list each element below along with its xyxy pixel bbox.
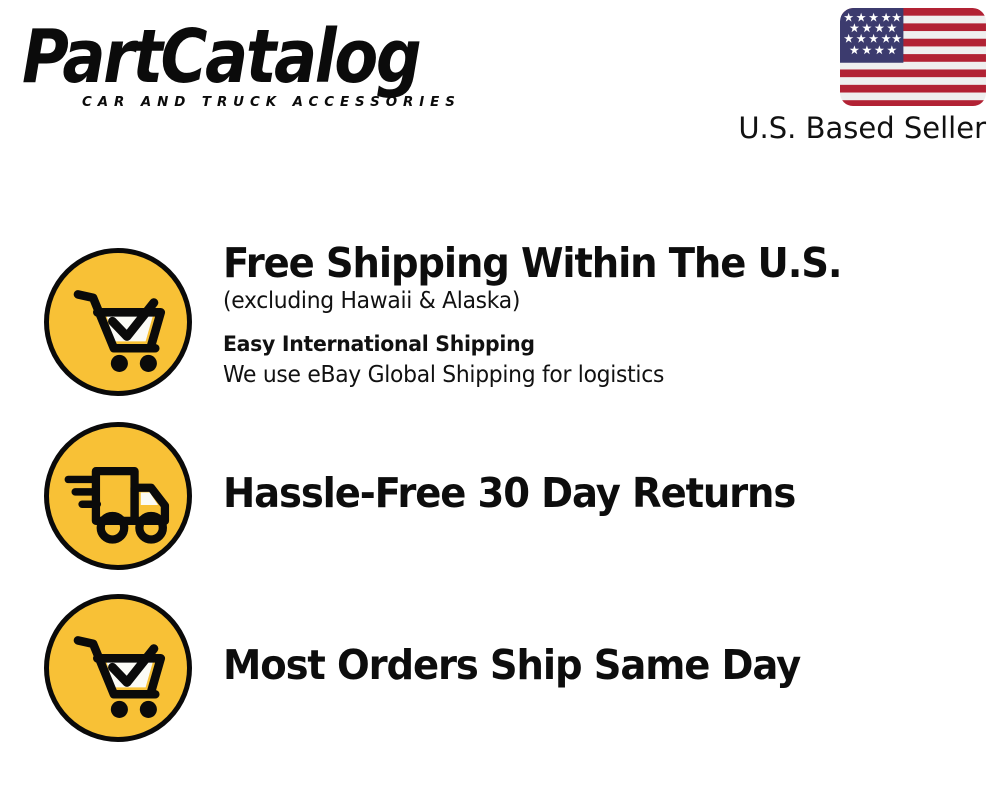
feature-text-same-day: Most Orders Ship Same Day [223,642,983,688]
feature-subtitle: Easy International Shipping [223,329,945,360]
text-spacer [223,317,983,329]
delivery-truck-icon [44,422,192,570]
shopping-cart-check-icon [44,248,192,396]
feature-title: Hassle-Free 30 Day Returns [223,470,937,516]
feature-list: Free Shipping Within The U.S. (excluding… [0,0,1000,800]
feature-note: (excluding Hawaii & Alaska) [223,286,945,317]
feature-text-free-shipping: Free Shipping Within The U.S. (excluding… [223,240,983,391]
feature-title: Most Orders Ship Same Day [223,642,937,688]
feature-subtext: We use eBay Global Shipping for logistic… [223,360,945,391]
feature-title: Free Shipping Within The U.S. [223,240,937,286]
feature-text-returns: Hassle-Free 30 Day Returns [223,470,983,516]
shopping-cart-check-icon [44,594,192,742]
